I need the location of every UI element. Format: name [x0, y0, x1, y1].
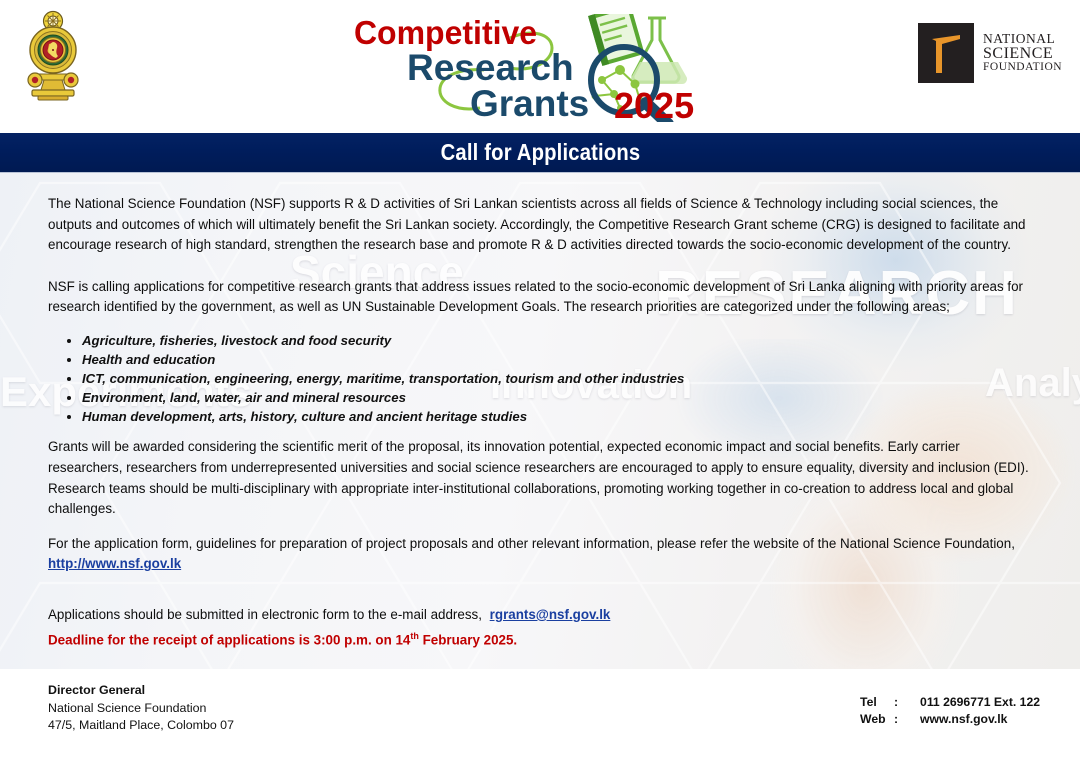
banner-title: Call for Applications [440, 139, 640, 166]
nsf-website-link[interactable]: http://www.nsf.gov.lk [48, 556, 181, 571]
list-item: Agriculture, fisheries, livestock and fo… [82, 332, 1032, 351]
svg-text:Research: Research [407, 47, 574, 88]
list-item: Health and education [82, 351, 1032, 370]
grants-email-link[interactable]: rgrants@nsf.gov.lk [490, 607, 611, 622]
footer-tel-label: Tel [860, 694, 894, 711]
sri-lanka-emblem-icon [22, 8, 84, 104]
deadline-statement: Deadline for the receipt of applications… [48, 626, 1032, 651]
list-item: ICT, communication, engineering, energy,… [82, 370, 1032, 389]
priority-areas-list: Agriculture, fisheries, livestock and fo… [48, 332, 1032, 427]
footer-web-colon: : [894, 711, 920, 728]
list-item: Human development, arts, history, cultur… [82, 408, 1032, 427]
footer-web-value[interactable]: www.nsf.gov.lk [920, 711, 1007, 728]
footer-contact-block: Tel : 011 2696771 Ext. 122 Web : www.nsf… [860, 694, 1040, 728]
call-for-applications-banner: Call for Applications [0, 133, 1080, 173]
document-header: Competitive Research Grants 2025 NATIONA… [0, 0, 1080, 133]
paragraph-call: NSF is calling applications for competit… [48, 277, 1032, 318]
svg-text:2025: 2025 [614, 85, 694, 122]
nsf-logo: NATIONAL SCIENCE FOUNDATION [918, 22, 1054, 84]
paragraph-intro: The National Science Foundation (NSF) su… [48, 194, 1032, 256]
svg-text:Grants: Grants [470, 83, 589, 122]
footer-web-row: Web : www.nsf.gov.lk [860, 711, 1040, 728]
list-item: Environment, land, water, air and minera… [82, 389, 1032, 408]
body-content: The National Science Foundation (NSF) su… [0, 173, 1080, 669]
paragraph-application-form: For the application form, guidelines for… [48, 534, 1032, 555]
footer-tel-colon: : [894, 694, 920, 711]
svg-text:Competitive: Competitive [354, 15, 537, 52]
footer-web-label: Web [860, 711, 894, 728]
footer-tel-value: 011 2696771 Ext. 122 [920, 694, 1040, 711]
document-footer: Director General National Science Founda… [0, 669, 1080, 763]
deadline-ordinal-suffix: th [410, 631, 419, 641]
deadline-prefix: Deadline for the receipt of applications… [48, 632, 410, 647]
nsf-word-national: NATIONAL [983, 32, 1062, 46]
nsf-word-foundation: FOUNDATION [983, 62, 1062, 74]
document-body: RESEARCH Science Innovation Experiments … [0, 173, 1080, 669]
document-page: Competitive Research Grants 2025 NATIONA… [0, 0, 1080, 763]
footer-tel-row: Tel : 011 2696771 Ext. 122 [860, 694, 1040, 711]
nsf-wordmark: NATIONAL SCIENCE FOUNDATION [983, 32, 1062, 74]
paragraph-submission-prefix: Applications should be submitted in elec… [48, 607, 482, 622]
competitive-research-grants-logo: Competitive Research Grants 2025 [352, 14, 712, 122]
paragraph-criteria: Grants will be awarded considering the s… [48, 437, 1032, 519]
deadline-suffix: February 2025. [419, 632, 517, 647]
nsf-word-science: SCIENCE [983, 46, 1062, 62]
nsf-mark-icon [918, 23, 974, 83]
